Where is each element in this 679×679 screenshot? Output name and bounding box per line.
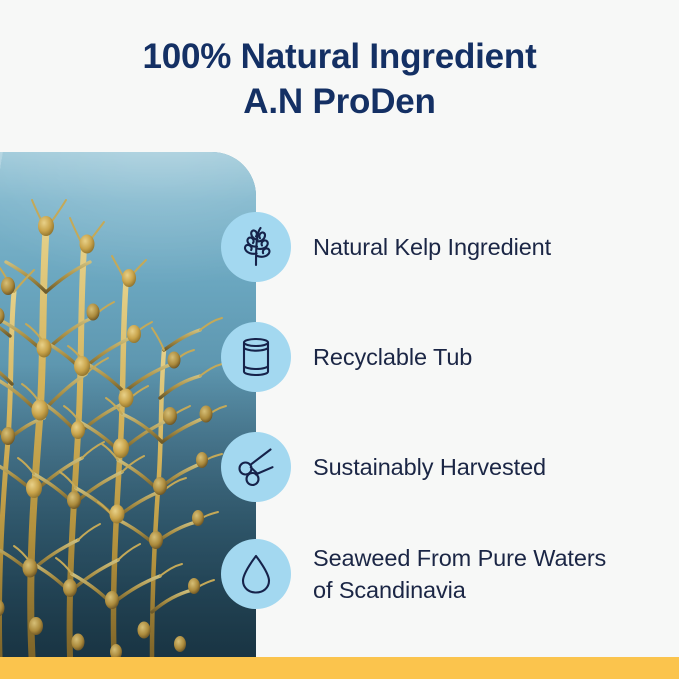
page-title-line-2: A.N ProDen — [0, 79, 679, 124]
feature-row-recyclable-tub: Recyclable Tub — [221, 322, 472, 392]
feature-label: Natural Kelp Ingredient — [313, 231, 551, 263]
water-droplet-icon — [221, 539, 291, 609]
feature-label: Recyclable Tub — [313, 341, 472, 373]
page-title-line-1: 100% Natural Ingredient — [0, 34, 679, 79]
kelp-plant-illustration — [0, 152, 256, 657]
page-title: 100% Natural Ingredient A.N ProDen — [0, 34, 679, 124]
feature-row-natural-kelp: Natural Kelp Ingredient — [221, 212, 551, 282]
feature-label: Seaweed From Pure Waters of Scandinavia — [313, 542, 606, 606]
kelp-frond-icon — [221, 212, 291, 282]
bottom-accent-band — [0, 657, 679, 679]
feature-label: Sustainably Harvested — [313, 451, 546, 483]
product-feature-infographic: 100% Natural Ingredient A.N ProDen — [0, 0, 679, 679]
kelp-underwater-photo — [0, 152, 256, 657]
scissors-icon — [221, 432, 291, 502]
feature-row-sustainably-harvested: Sustainably Harvested — [221, 432, 546, 502]
feature-row-pure-waters: Seaweed From Pure Waters of Scandinavia — [221, 539, 606, 609]
tub-jar-icon — [221, 322, 291, 392]
